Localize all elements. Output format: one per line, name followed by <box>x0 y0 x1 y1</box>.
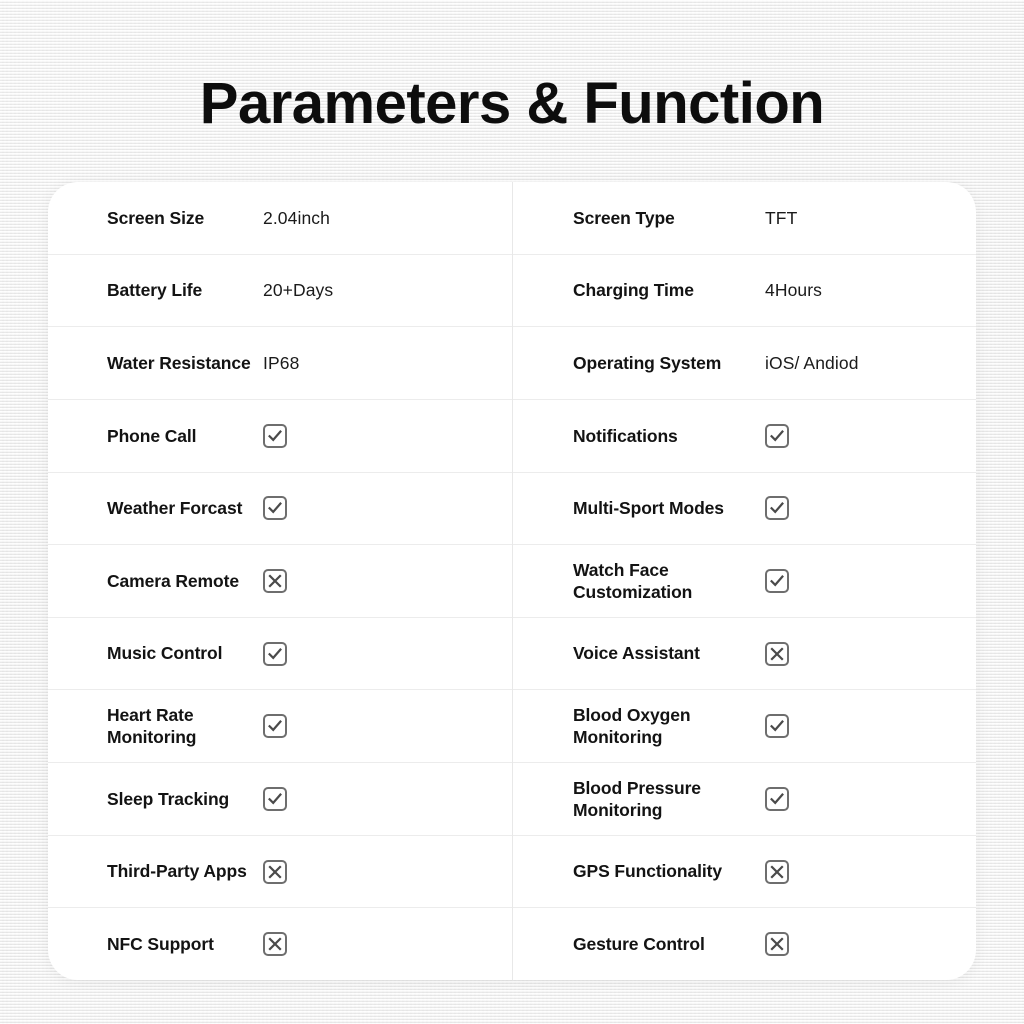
spec-value: iOS/ Andiod <box>765 352 859 374</box>
table-row: Water ResistanceIP68 <box>48 327 512 400</box>
table-row: Weather Forcast <box>48 473 512 546</box>
spec-value <box>263 860 287 884</box>
spec-column-right: Screen TypeTFTCharging Time4HoursOperati… <box>512 182 976 980</box>
table-row: Music Control <box>48 618 512 691</box>
spec-sheet-page: Parameters & Function Screen Size2.04inc… <box>0 0 1024 1024</box>
table-row: Voice Assistant <box>513 618 976 691</box>
spec-label: Notifications <box>513 425 765 447</box>
spec-value <box>765 787 789 811</box>
spec-label: Voice Assistant <box>513 642 765 664</box>
page-title: Parameters & Function <box>0 74 1024 135</box>
table-row: Camera Remote <box>48 545 512 618</box>
spec-label: GPS Functionality <box>513 860 765 882</box>
spec-value <box>263 642 287 666</box>
spec-value <box>263 496 287 520</box>
spec-label: NFC Support <box>48 933 263 955</box>
table-row: Watch Face Customization <box>513 545 976 618</box>
table-row: Third-Party Apps <box>48 836 512 909</box>
table-row: Blood Pressure Monitoring <box>513 763 976 836</box>
spec-label: Weather Forcast <box>48 497 263 519</box>
checkbox-crossed-icon[interactable] <box>765 860 789 884</box>
checkbox-checked-icon[interactable] <box>765 496 789 520</box>
spec-label: Blood Pressure Monitoring <box>513 777 765 822</box>
table-row: Gesture Control <box>513 908 976 980</box>
spec-value <box>765 496 789 520</box>
table-row: Operating SystemiOS/ Andiod <box>513 327 976 400</box>
checkbox-checked-icon[interactable] <box>765 569 789 593</box>
spec-label: Charging Time <box>513 279 765 301</box>
table-row: Screen Size2.04inch <box>48 182 512 255</box>
spec-value: TFT <box>765 207 797 229</box>
spec-label: Battery Life <box>48 279 263 301</box>
spec-label: Sleep Tracking <box>48 788 263 810</box>
checkbox-crossed-icon[interactable] <box>263 932 287 956</box>
table-row: Phone Call <box>48 400 512 473</box>
spec-column-left: Screen Size2.04inchBattery Life20+DaysWa… <box>48 182 512 980</box>
specification-card: Screen Size2.04inchBattery Life20+DaysWa… <box>48 182 976 980</box>
checkbox-checked-icon[interactable] <box>263 424 287 448</box>
checkbox-checked-icon[interactable] <box>765 714 789 738</box>
checkbox-checked-icon[interactable] <box>765 787 789 811</box>
spec-label: Camera Remote <box>48 570 263 592</box>
spec-label: Screen Size <box>48 207 263 229</box>
spec-label: Heart Rate Monitoring <box>48 704 263 749</box>
spec-label: Blood Oxygen Monitoring <box>513 704 765 749</box>
table-row: Screen TypeTFT <box>513 182 976 255</box>
spec-label: Operating System <box>513 352 765 374</box>
spec-value: 20+Days <box>263 279 333 301</box>
table-row: Heart Rate Monitoring <box>48 690 512 763</box>
checkbox-crossed-icon[interactable] <box>765 642 789 666</box>
checkbox-checked-icon[interactable] <box>263 642 287 666</box>
spec-label: Watch Face Customization <box>513 559 765 604</box>
spec-label: Multi-Sport Modes <box>513 497 765 519</box>
spec-value <box>263 714 287 738</box>
spec-label: Music Control <box>48 642 263 664</box>
checkbox-crossed-icon[interactable] <box>263 569 287 593</box>
spec-value <box>765 860 789 884</box>
table-row: Battery Life20+Days <box>48 255 512 328</box>
spec-value <box>263 932 287 956</box>
table-row: Multi-Sport Modes <box>513 473 976 546</box>
table-row: Charging Time4Hours <box>513 255 976 328</box>
checkbox-checked-icon[interactable] <box>263 714 287 738</box>
checkbox-crossed-icon[interactable] <box>263 860 287 884</box>
spec-value <box>263 569 287 593</box>
table-row: Blood Oxygen Monitoring <box>513 690 976 763</box>
checkbox-checked-icon[interactable] <box>263 496 287 520</box>
spec-label: Gesture Control <box>513 933 765 955</box>
spec-value <box>765 424 789 448</box>
table-row: GPS Functionality <box>513 836 976 909</box>
checkbox-checked-icon[interactable] <box>263 787 287 811</box>
table-row: Notifications <box>513 400 976 473</box>
spec-value: 2.04inch <box>263 207 330 229</box>
table-row: NFC Support <box>48 908 512 980</box>
spec-value <box>765 569 789 593</box>
spec-value <box>765 932 789 956</box>
spec-value: IP68 <box>263 352 299 374</box>
spec-label: Screen Type <box>513 207 765 229</box>
spec-label: Phone Call <box>48 425 263 447</box>
spec-value <box>765 642 789 666</box>
spec-value <box>263 787 287 811</box>
table-row: Sleep Tracking <box>48 763 512 836</box>
spec-value: 4Hours <box>765 279 822 301</box>
checkbox-checked-icon[interactable] <box>765 424 789 448</box>
spec-label: Third-Party Apps <box>48 860 263 882</box>
checkbox-crossed-icon[interactable] <box>765 932 789 956</box>
spec-value <box>263 424 287 448</box>
spec-value <box>765 714 789 738</box>
spec-label: Water Resistance <box>48 352 263 374</box>
